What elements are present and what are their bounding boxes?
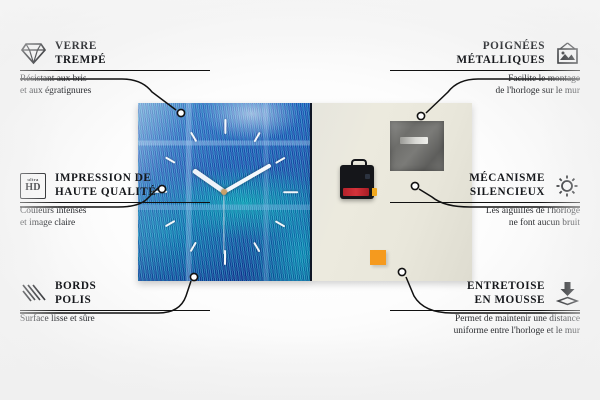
clock-minute-hand: [223, 163, 272, 193]
clock-tick: [275, 220, 286, 228]
feature-desc-line1: Couleurs intenses: [20, 206, 210, 217]
feature-title-line2: MÉTALLIQUES: [456, 54, 545, 68]
feature-bords-polis: BORDS POLIS Surface lisse et sûre: [20, 280, 210, 326]
metal-hanger-plate: [390, 121, 444, 171]
aa-battery: [343, 188, 369, 196]
feature-rule: [390, 202, 580, 203]
feature-rule: [20, 310, 210, 311]
clock-tick: [275, 156, 286, 164]
feature-rule: [390, 70, 580, 71]
feature-description: Couleurs intenses et image claire: [20, 206, 210, 229]
clock-tick: [165, 156, 176, 164]
feature-poignees-metalliques: POIGNÉES MÉTALLIQUES Facilite le montage…: [390, 40, 580, 97]
feature-mecanisme-silencieux: MÉCANISME SILENCIEUX Les aiguilles de l'…: [390, 172, 580, 229]
feature-title-line2: HAUTE QUALITÉ: [55, 186, 156, 200]
foam-spacer-icon: [554, 281, 580, 307]
feature-title-line2: POLIS: [55, 294, 96, 308]
movement-knob: [365, 174, 370, 179]
clock-tick: [190, 242, 198, 253]
clock-center-hub: [221, 189, 227, 195]
feature-title-line1: BORDS: [55, 280, 96, 294]
feature-title-line1: MÉCANISME: [469, 172, 545, 186]
clock-tick: [190, 132, 198, 143]
feature-desc-line2: de l'horloge sur le mur: [390, 86, 580, 97]
clock-tick: [283, 191, 298, 193]
feature-desc-line1: Les aiguilles de l'horloge: [390, 206, 580, 217]
hanger-slot: [400, 137, 428, 144]
feature-desc-line2: et image claire: [20, 218, 210, 229]
foam-spacer: [370, 250, 386, 265]
feature-title-line2: TREMPÉ: [55, 54, 106, 68]
infographic-canvas: VERRE TREMPÉ Résistant aux bris et aux é…: [0, 0, 600, 400]
ultra-hd-icon-main-text: HD: [25, 183, 40, 193]
ultra-hd-icon: ultra HD: [20, 173, 46, 199]
feature-impression-haute-qualite: ultra HD IMPRESSION DE HAUTE QUALITÉ Cou…: [20, 172, 210, 229]
feature-description: Résistant aux bris et aux égratignures: [20, 74, 210, 97]
feature-description: Permet de maintenir une distance uniform…: [390, 314, 580, 337]
movement-hanger-tab: [351, 159, 367, 169]
feature-title-line1: POIGNÉES: [456, 40, 545, 54]
feature-title-line1: VERRE: [55, 40, 106, 54]
feature-description: Surface lisse et sûre: [20, 314, 210, 325]
feature-desc-line1: Permet de maintenir une distance: [390, 314, 580, 325]
clock-second-hand: [223, 192, 224, 254]
feature-title-line2: SILENCIEUX: [469, 186, 545, 200]
feature-desc-line2: ne font aucun bruit: [390, 218, 580, 229]
feature-title-line2: EN MOUSSE: [467, 294, 545, 308]
feature-desc-line2: uniforme entre l'horloge et le mur: [390, 326, 580, 337]
clock-tick: [224, 119, 226, 134]
feature-entretoise-en-mousse: ENTRETOISE EN MOUSSE Permet de maintenir…: [390, 280, 580, 337]
feature-rule: [20, 70, 210, 71]
polished-edges-icon: [20, 281, 46, 307]
gear-icon: [554, 173, 580, 199]
diamond-icon: [20, 41, 46, 67]
feature-title-line1: IMPRESSION DE: [55, 172, 156, 186]
feature-rule: [390, 310, 580, 311]
feature-description: Les aiguilles de l'horloge ne font aucun…: [390, 206, 580, 229]
quartz-movement: [340, 165, 374, 199]
feature-desc-line1: Surface lisse et sûre: [20, 314, 210, 325]
battery-terminal: [372, 188, 377, 196]
picture-hanger-icon: [554, 41, 580, 67]
feature-rule: [20, 202, 210, 203]
feature-verre-trempe: VERRE TREMPÉ Résistant aux bris et aux é…: [20, 40, 210, 97]
feature-desc-line2: et aux égratignures: [20, 86, 210, 97]
feature-title-line1: ENTRETOISE: [467, 280, 545, 294]
clock-tick: [253, 242, 261, 253]
clock-tick: [253, 132, 261, 143]
feature-description: Facilite le montage de l'horloge sur le …: [390, 74, 580, 97]
feature-desc-line1: Résistant aux bris: [20, 74, 210, 85]
feature-desc-line1: Facilite le montage: [390, 74, 580, 85]
